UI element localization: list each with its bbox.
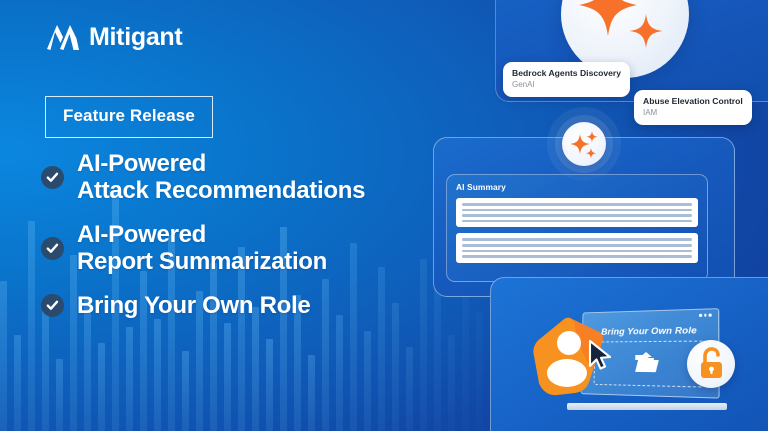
brand-logo[interactable]: Mitigant (46, 22, 182, 52)
feature-label: Bring Your Own Role (77, 292, 310, 319)
ai-summary-label: AI Summary (456, 182, 698, 192)
check-circle-icon (41, 294, 64, 317)
summary-skeleton-line (462, 255, 692, 258)
summary-skeleton-container (456, 198, 698, 263)
feature-label: AI-PoweredAttack Recommendations (77, 150, 365, 204)
summary-skeleton-line (462, 214, 692, 217)
feature-label-line2: Report Summarization (77, 248, 327, 275)
summary-skeleton-line (462, 209, 692, 212)
check-circle-icon (41, 166, 64, 189)
feature-item: AI-PoweredAttack Recommendations (41, 150, 461, 204)
mouse-cursor-icon[interactable] (587, 340, 613, 370)
summary-skeleton-line (462, 250, 692, 253)
feature-release-badge: Feature Release (45, 96, 213, 138)
summary-skeleton-line (462, 244, 692, 247)
check-circle-icon (41, 237, 64, 260)
feature-label-line2: Attack Recommendations (77, 177, 365, 204)
pill-title: Bedrock Agents Discovery (512, 68, 621, 79)
unlocked-padlock-icon (687, 340, 735, 388)
ai-summary-orb (562, 122, 606, 166)
ai-sparkle-small-icon (562, 122, 606, 166)
illustration-column: Bedrock Agents Discovery GenAI Abuse Ele… (420, 0, 768, 431)
feature-release-badge-label: Feature Release (63, 106, 195, 125)
ai-summary-card: AI Summary (446, 174, 708, 282)
summary-skeleton-block (456, 233, 698, 262)
mitigant-m-logo-icon (46, 22, 80, 52)
pill-bedrock-agents-discovery[interactable]: Bedrock Agents Discovery GenAI (503, 62, 630, 97)
feature-list: AI-PoweredAttack RecommendationsAI-Power… (41, 150, 461, 320)
summary-skeleton-line (462, 220, 692, 223)
pill-abuse-elevation-control[interactable]: Abuse Elevation Control IAM (634, 90, 752, 125)
summary-skeleton-line (462, 238, 692, 241)
pill-subtitle: IAM (643, 108, 743, 118)
feature-item: AI-PoweredReport Summarization (41, 221, 461, 275)
feature-item: Bring Your Own Role (41, 292, 461, 319)
bring-your-own-role-panel: Bring Your Own Role (490, 277, 768, 431)
laptop-base (567, 403, 727, 410)
ai-summary-panel: AI Summary (433, 137, 735, 297)
window-dots-icon (699, 314, 712, 317)
summary-skeleton-block (456, 198, 698, 227)
feature-label: AI-PoweredReport Summarization (77, 221, 327, 275)
summary-skeleton-line (462, 203, 692, 206)
feature-release-banner: Mitigant Feature Release AI-PoweredAttac… (0, 0, 768, 431)
upload-role-icon (632, 350, 662, 376)
unlocked-padlock-badge (687, 340, 735, 388)
left-content-column: Mitigant Feature Release AI-PoweredAttac… (0, 0, 470, 431)
pill-title: Abuse Elevation Control (643, 96, 743, 107)
pill-subtitle: GenAI (512, 80, 621, 90)
brand-name: Mitigant (89, 25, 182, 50)
